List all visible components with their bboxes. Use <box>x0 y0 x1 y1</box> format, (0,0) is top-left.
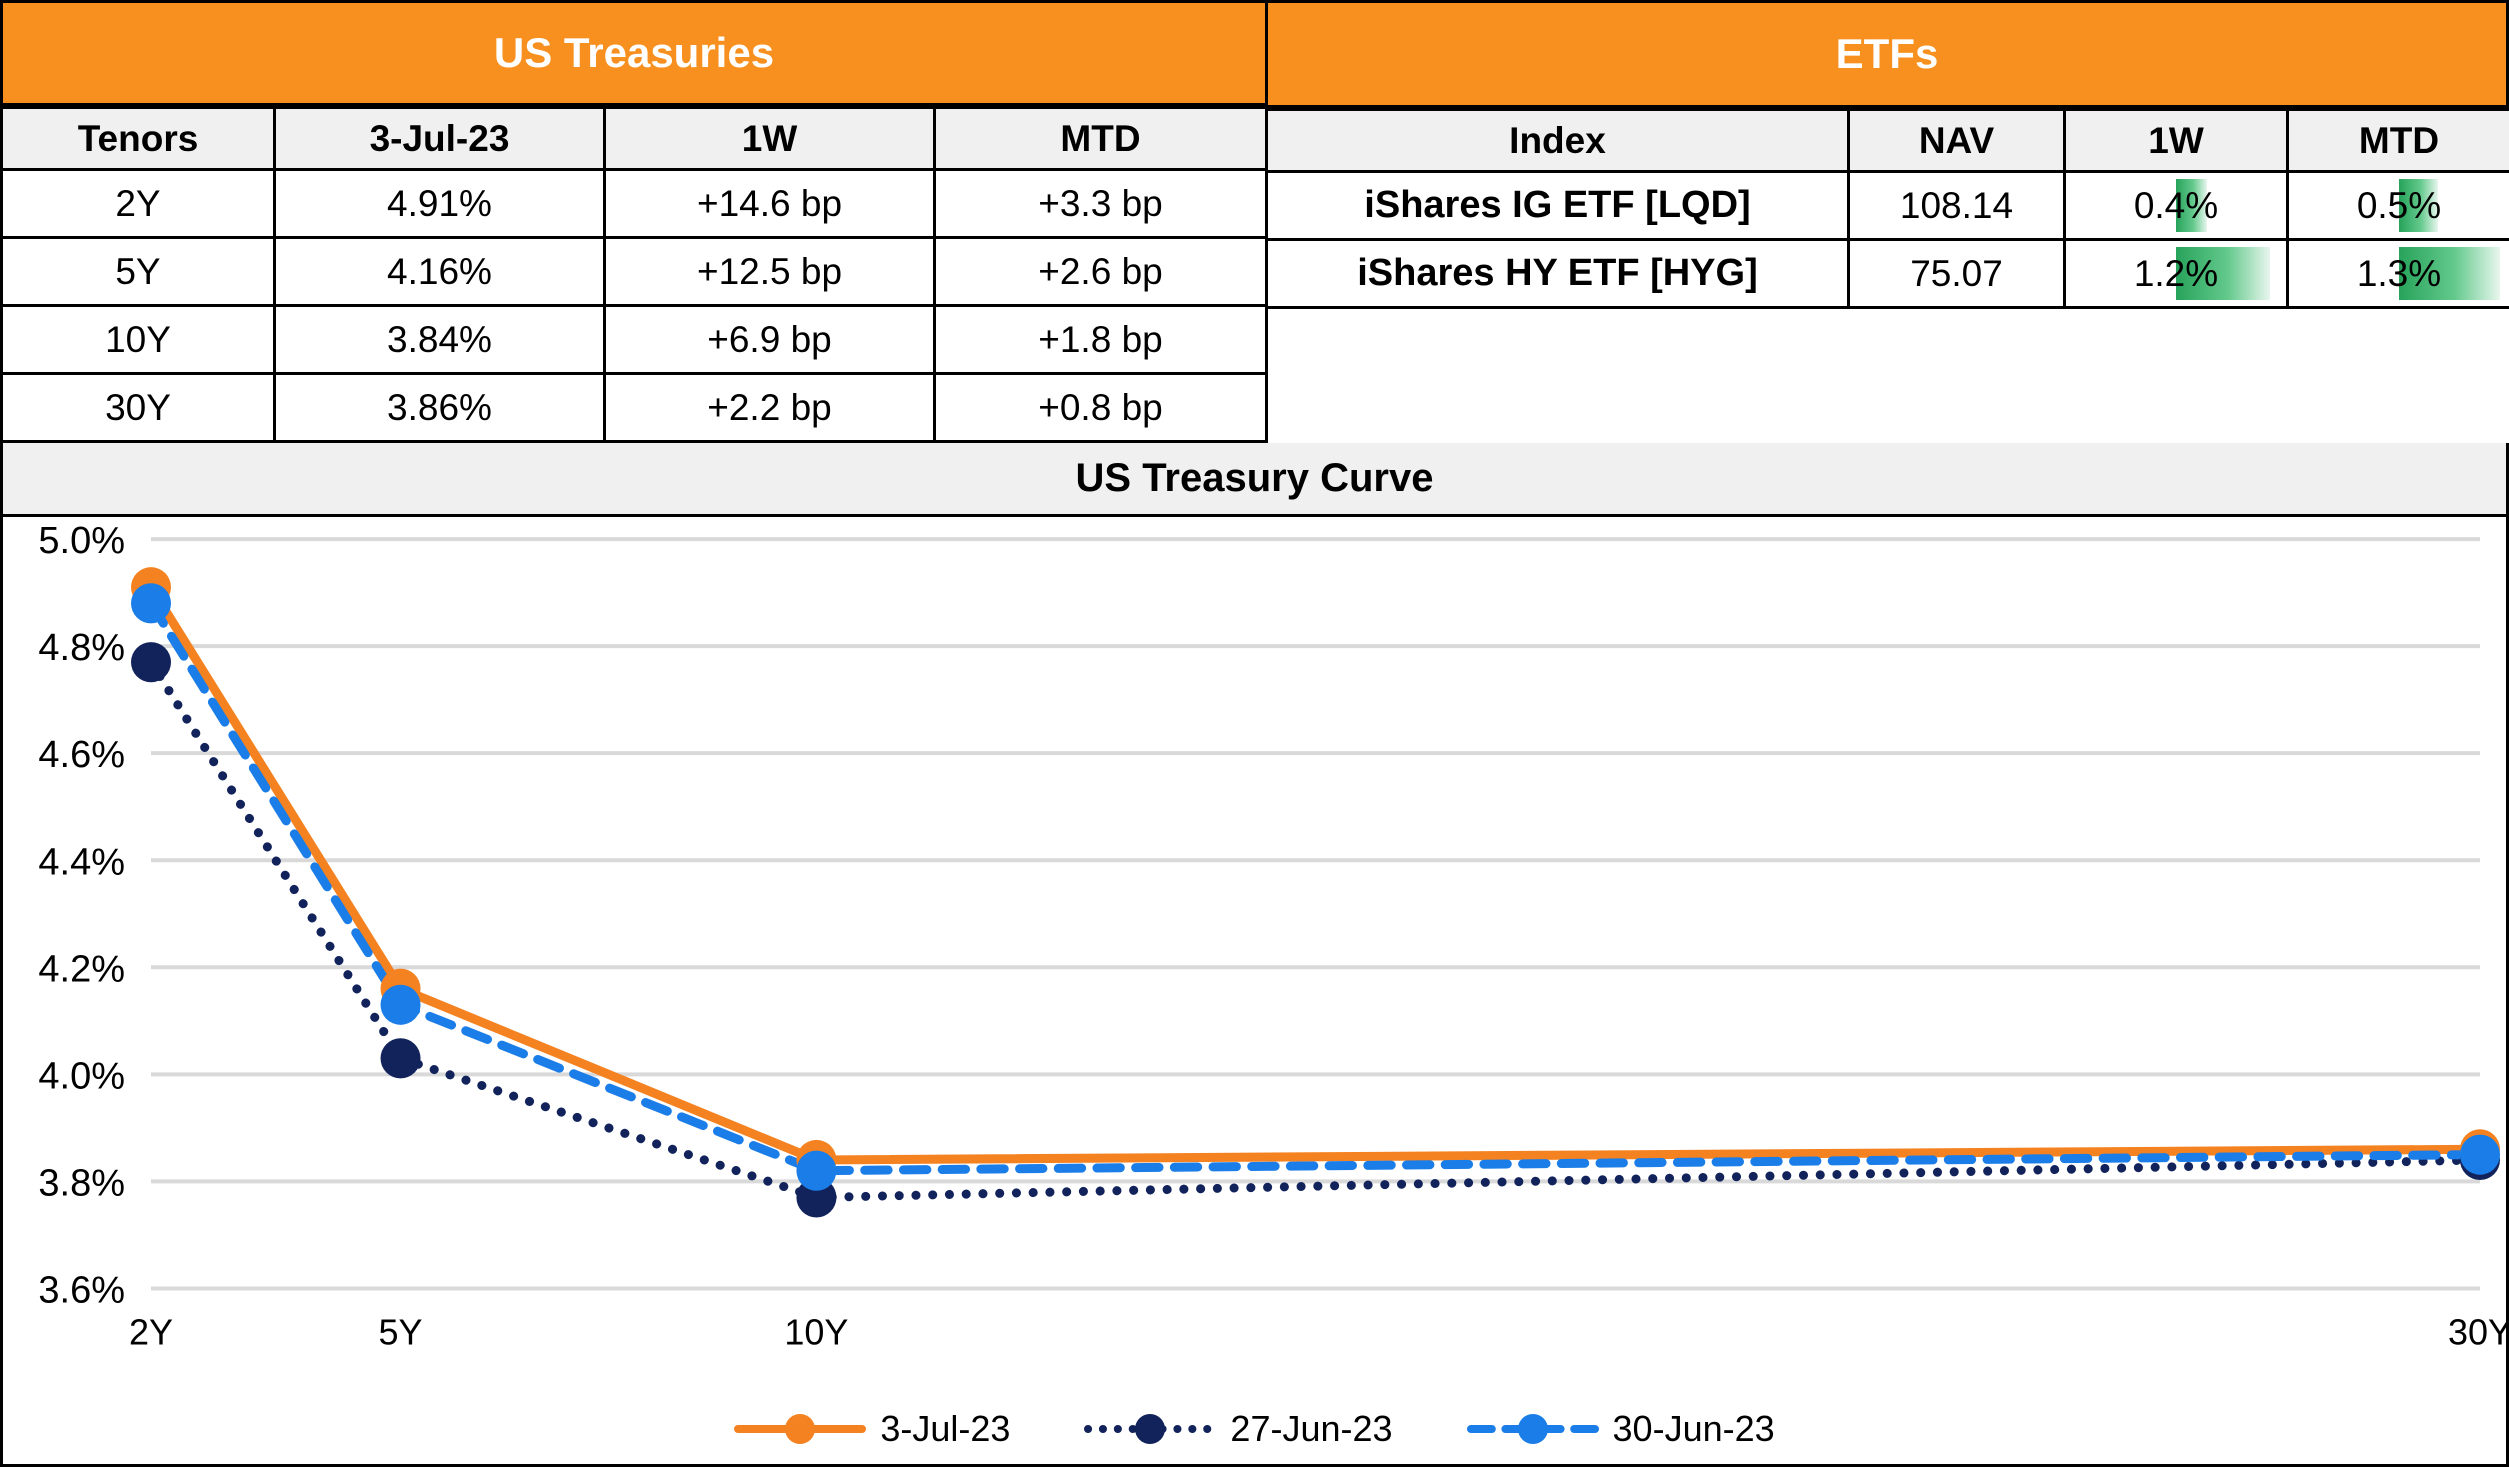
legend-label: 30-Jun-23 <box>1613 1408 1775 1450</box>
chart-series-markers <box>131 567 2500 1217</box>
svg-text:3.6%: 3.6% <box>38 1269 125 1311</box>
change-1w-cell: +14.6 bp <box>605 170 935 238</box>
treasury-dashboard: US Treasuries Tenors 3-Jul-23 1W MTD 2Y … <box>0 0 2509 1467</box>
column-header-1w: 1W <box>2065 110 2288 172</box>
etf-mtd-value: 1.3% <box>2357 253 2441 294</box>
change-mtd-cell: +3.3 bp <box>935 170 1267 238</box>
table-row: iShares IG ETF [LQD] 108.14 0.4% 0.5% <box>1267 172 2509 240</box>
table-row: 5Y 4.16% +12.5 bp +2.6 bp <box>2 238 1267 306</box>
etf-mtd-cell: 1.3% <box>2288 240 2509 308</box>
legend-swatch <box>734 1409 866 1449</box>
us-treasuries-band-title: US Treasuries <box>0 0 1265 106</box>
svg-text:5Y: 5Y <box>379 1312 423 1353</box>
legend-item[interactable]: 27-Jun-23 <box>1084 1408 1392 1450</box>
us-treasuries-table: Tenors 3-Jul-23 1W MTD 2Y 4.91% +14.6 bp… <box>0 106 1268 443</box>
svg-text:10Y: 10Y <box>784 1312 848 1353</box>
top-panels: US Treasuries Tenors 3-Jul-23 1W MTD 2Y … <box>0 0 2509 443</box>
table-header-row: Index NAV 1W MTD <box>1267 110 2509 172</box>
yield-cell: 3.84% <box>275 306 605 374</box>
etf-nav-cell: 108.14 <box>1849 172 2065 240</box>
svg-text:2Y: 2Y <box>129 1312 173 1353</box>
legend-item[interactable]: 30-Jun-23 <box>1467 1408 1775 1450</box>
svg-text:5.0%: 5.0% <box>38 520 125 562</box>
table-row: 10Y 3.84% +6.9 bp +1.8 bp <box>2 306 1267 374</box>
tenor-cell: 30Y <box>2 374 275 442</box>
svg-text:3.8%: 3.8% <box>38 1162 125 1204</box>
us-treasuries-panel: US Treasuries Tenors 3-Jul-23 1W MTD 2Y … <box>0 0 1265 443</box>
etf-index-cell: iShares HY ETF [HYG] <box>1267 240 1849 308</box>
table-row: 30Y 3.86% +2.2 bp +0.8 bp <box>2 374 1267 442</box>
change-1w-cell: +12.5 bp <box>605 238 935 306</box>
column-header-mtd: MTD <box>935 108 1267 170</box>
yield-cell: 4.91% <box>275 170 605 238</box>
legend-swatch <box>1467 1409 1599 1449</box>
column-header-tenors: Tenors <box>2 108 275 170</box>
change-mtd-cell: +2.6 bp <box>935 238 1267 306</box>
tenor-cell: 5Y <box>2 238 275 306</box>
tenor-cell: 10Y <box>2 306 275 374</box>
chart-series-lines <box>151 587 2480 1197</box>
legend-item[interactable]: 3-Jul-23 <box>734 1408 1010 1450</box>
chart-legend: 3-Jul-2327-Jun-2330-Jun-23 <box>3 1408 2506 1450</box>
etf-1w-cell: 0.4% <box>2065 172 2288 240</box>
legend-label: 3-Jul-23 <box>880 1408 1010 1450</box>
legend-label: 27-Jun-23 <box>1230 1408 1392 1450</box>
etfs-table: Index NAV 1W MTD iShares IG ETF [LQD] 10… <box>1265 108 2509 309</box>
treasury-curve-chart: 5.0%4.8%4.6%4.4%4.2%4.0%3.8%3.6% 2Y5Y10Y… <box>3 517 2506 1464</box>
tenor-cell: 2Y <box>2 170 275 238</box>
table-row: 2Y 4.91% +14.6 bp +3.3 bp <box>2 170 1267 238</box>
change-mtd-cell: +0.8 bp <box>935 374 1267 442</box>
column-header-nav: NAV <box>1849 110 2065 172</box>
chart-title-band: US Treasury Curve <box>0 443 2509 517</box>
etf-nav-cell: 75.07 <box>1849 240 2065 308</box>
etfs-band-title: ETFs <box>1265 0 2509 108</box>
yield-cell: 4.16% <box>275 238 605 306</box>
svg-text:4.4%: 4.4% <box>38 841 125 883</box>
column-header-1w: 1W <box>605 108 935 170</box>
yield-cell: 3.86% <box>275 374 605 442</box>
etf-1w-cell: 1.2% <box>2065 240 2288 308</box>
change-1w-cell: +2.2 bp <box>605 374 935 442</box>
etfs-panel: ETFs Index NAV 1W MTD iShares IG ETF [LQ… <box>1265 0 2509 443</box>
table-header-row: Tenors 3-Jul-23 1W MTD <box>2 108 1267 170</box>
change-mtd-cell: +1.8 bp <box>935 306 1267 374</box>
etf-mtd-cell: 0.5% <box>2288 172 2509 240</box>
column-header-index: Index <box>1267 110 1849 172</box>
svg-text:4.0%: 4.0% <box>38 1055 125 1097</box>
change-1w-cell: +6.9 bp <box>605 306 935 374</box>
column-header-date: 3-Jul-23 <box>275 108 605 170</box>
svg-text:4.8%: 4.8% <box>38 627 125 669</box>
etf-1w-value: 0.4% <box>2134 185 2218 226</box>
chart-x-axis-labels: 2Y5Y10Y30Y <box>129 1312 2506 1353</box>
legend-swatch <box>1084 1409 1216 1449</box>
etf-1w-value: 1.2% <box>2134 253 2218 294</box>
etf-mtd-value: 0.5% <box>2357 185 2441 226</box>
chart-body: 5.0%4.8%4.6%4.4%4.2%4.0%3.8%3.6% 2Y5Y10Y… <box>0 517 2509 1467</box>
chart-y-axis-labels: 5.0%4.8%4.6%4.4%4.2%4.0%3.8%3.6% <box>38 520 125 1311</box>
etf-index-cell: iShares IG ETF [LQD] <box>1267 172 1849 240</box>
svg-text:4.2%: 4.2% <box>38 948 125 990</box>
column-header-mtd: MTD <box>2288 110 2509 172</box>
svg-text:4.6%: 4.6% <box>38 734 125 776</box>
table-row: iShares HY ETF [HYG] 75.07 1.2% 1.3% <box>1267 240 2509 308</box>
chart-title: US Treasury Curve <box>1076 456 1434 501</box>
svg-text:30Y: 30Y <box>2448 1312 2506 1353</box>
chart-gridlines <box>151 539 2480 1288</box>
